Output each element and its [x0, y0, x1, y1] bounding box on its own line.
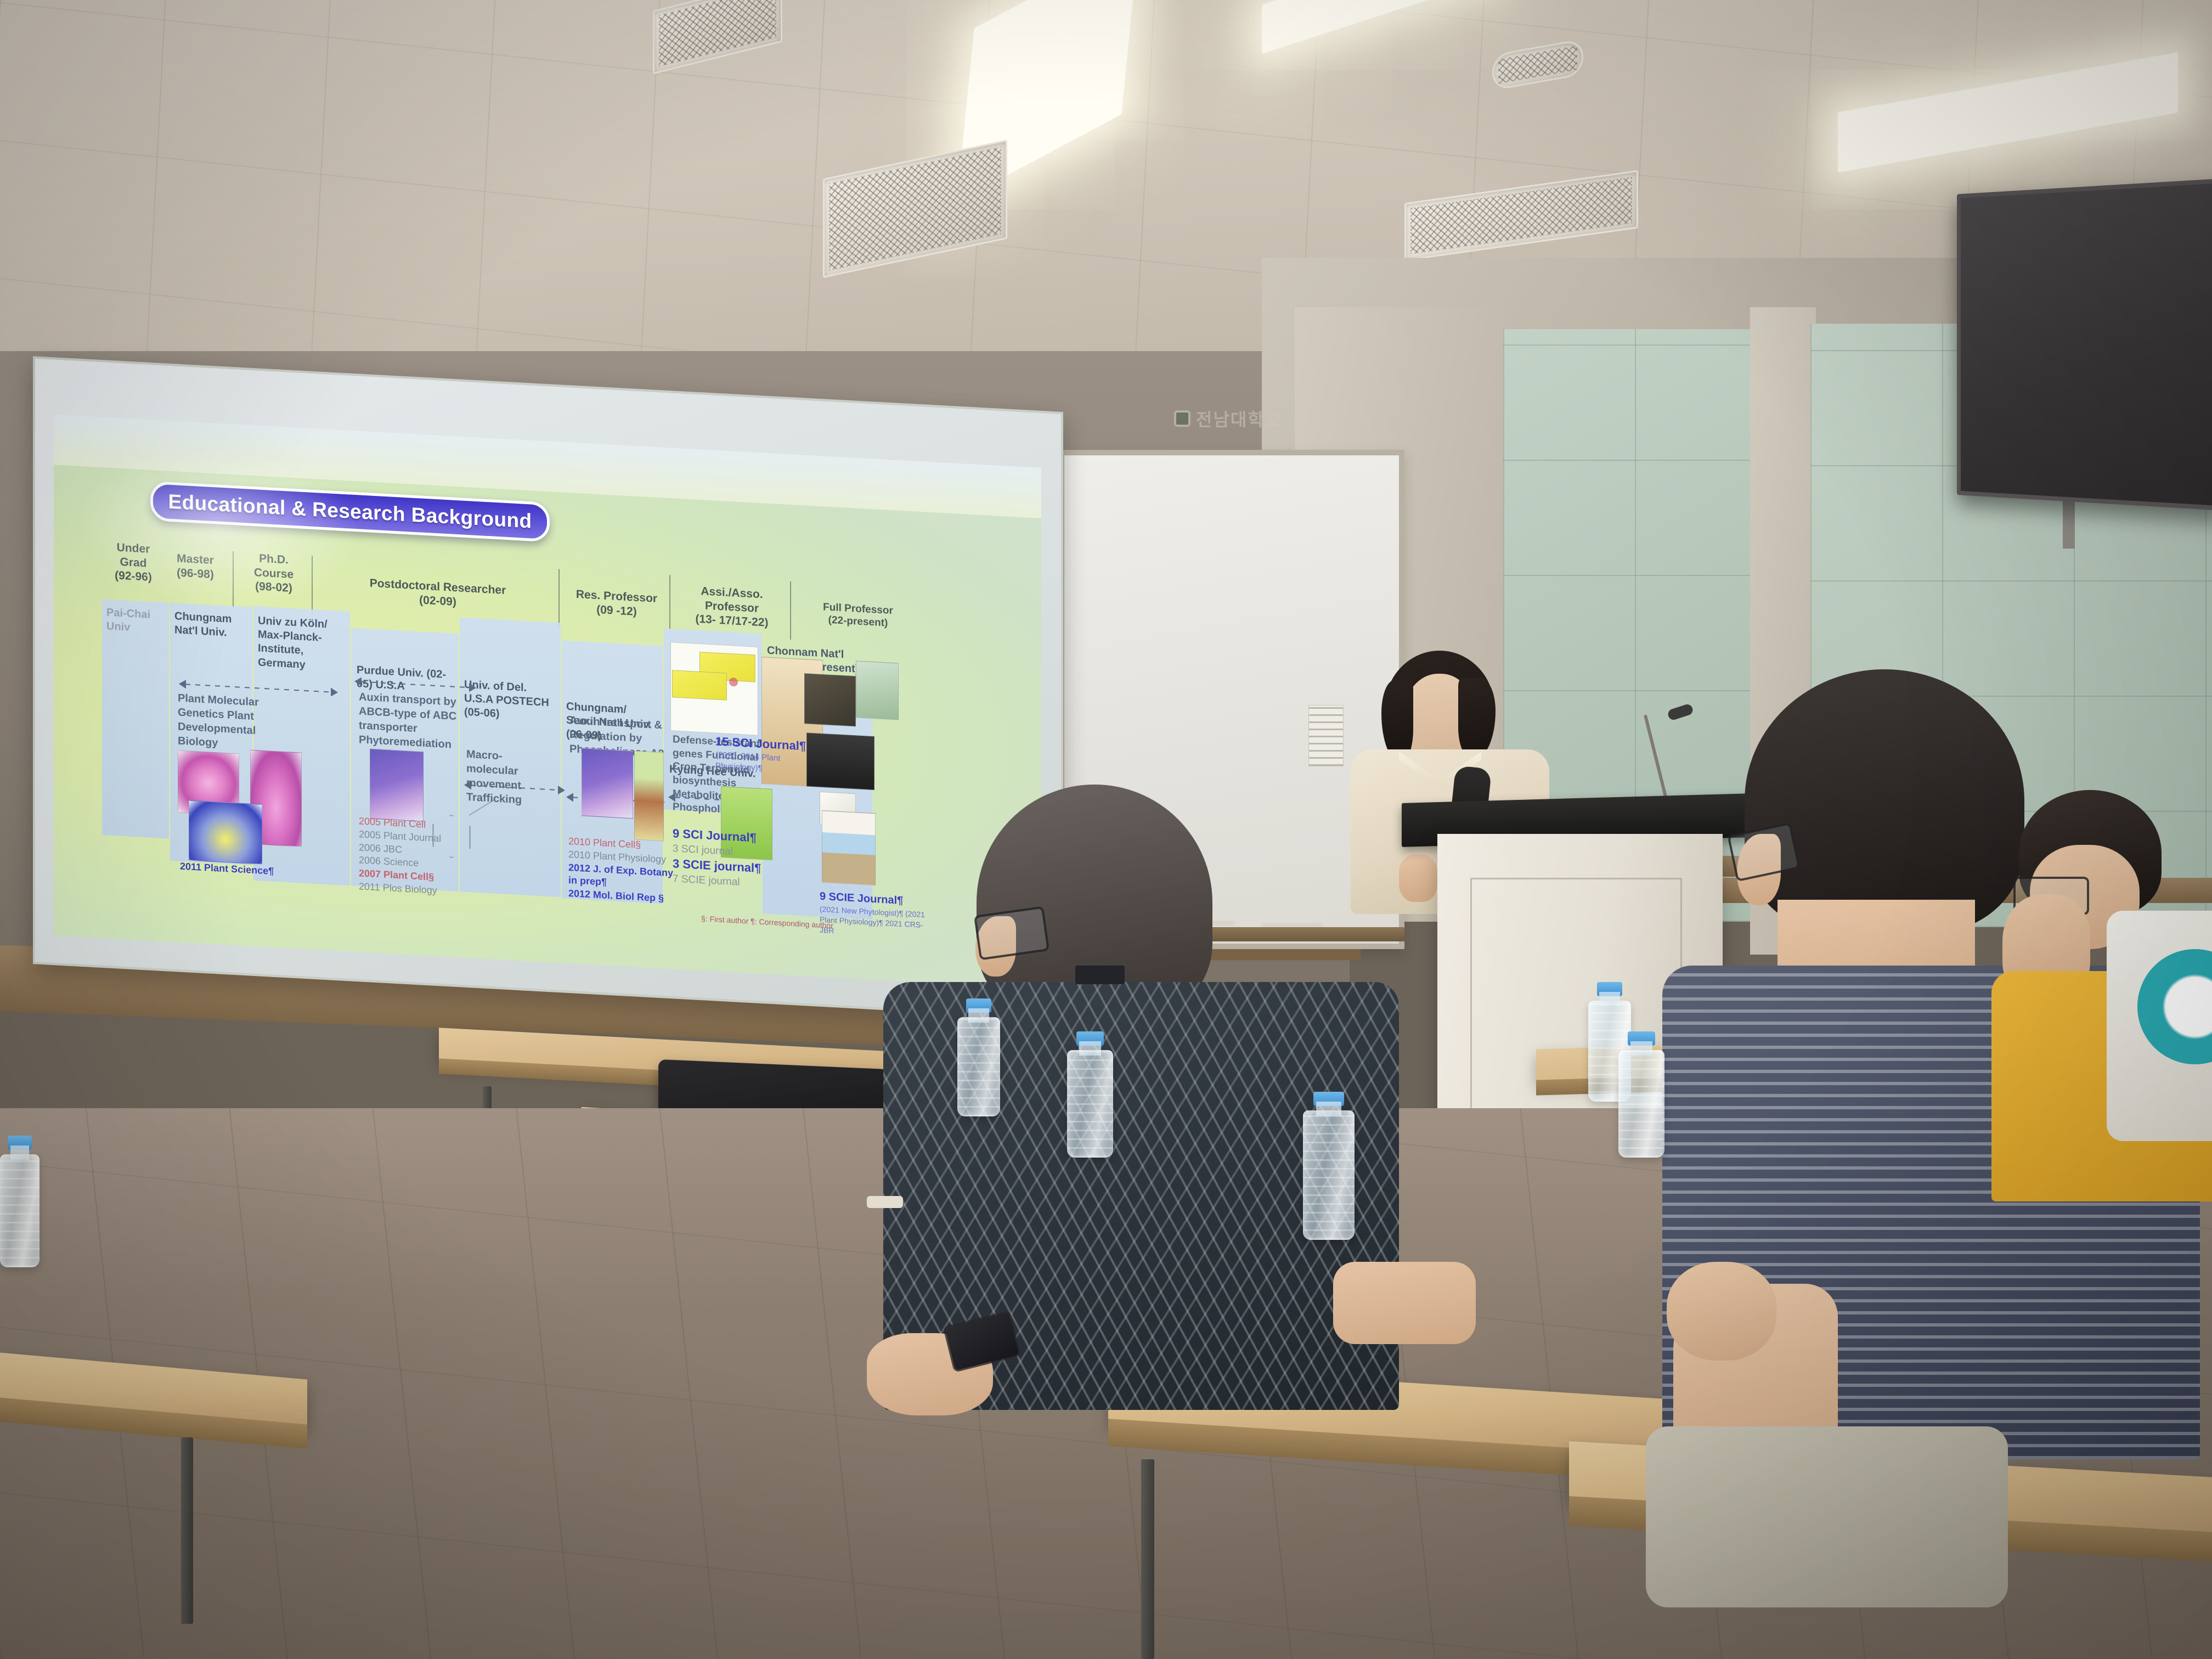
bottle-body [1067, 1050, 1113, 1158]
timeline-divider [790, 582, 791, 640]
water-bottle [1303, 1092, 1355, 1240]
timeline-divider [558, 569, 560, 627]
timeline-header-res-professor: Res. Professor (09 -12) [567, 587, 666, 620]
thumbnail-plant-photo [856, 661, 899, 720]
publication-list-mid: 2010 Plant Cell§ 2010 Plant Physiology 2… [568, 835, 678, 906]
wall-mounted-tv [1957, 178, 2212, 511]
thumbnail-plant-cell-cover [370, 748, 424, 821]
timeline-header-phd: Ph.D. Course (98-02) [238, 550, 309, 596]
timeline-divider [669, 575, 670, 633]
university-logo-text: 전남대학교 [1196, 406, 1282, 431]
thumbnail-new-phytologist-cover [822, 810, 876, 885]
attendee-forearm [1333, 1262, 1476, 1344]
bottle-body [1303, 1110, 1355, 1240]
institution-delaware-postech: Univ. of Del. U.S.A POSTECH (05-06) [464, 678, 552, 724]
institution-koeln-mpi: Univ zu Köln/ Max-Planck-Institute, Germ… [258, 614, 346, 674]
timeline-header-assi-asso-professor: Assi./Asso. Professor (13- 17/17-22) [677, 583, 787, 631]
remote-control [867, 1196, 903, 1208]
publication-list-left: 2005 Plant Cell 2005 Plant Journal 2006 … [359, 815, 458, 898]
thumbnail-microscopy-dark [804, 673, 856, 726]
water-bottle [957, 998, 1000, 1116]
water-bottle [1618, 1031, 1664, 1158]
institution-pai-chai: Pai-Chai Univ [106, 606, 167, 636]
slide-title-banner: Educational & Research Background [150, 481, 550, 542]
desk-leg [181, 1437, 193, 1624]
attendee-hand [1667, 1262, 1776, 1361]
topic-macromolecular-trafficking: Macro-molecular movement Trafficking [466, 747, 538, 808]
university-logo: 전남대학교 [1174, 406, 1282, 431]
timeline-header-postdoc: Postdoctoral Researcher (02-09) [323, 574, 553, 614]
thumbnail-plant-cell-cover [582, 748, 633, 819]
water-bottle [1067, 1031, 1113, 1158]
thumbnail-seedling-photo [634, 751, 664, 842]
slide-title-text: Educational & Research Background [168, 490, 532, 533]
timeline-divider [312, 556, 313, 614]
figure-red-blob [729, 678, 738, 687]
topic-plant-molecular-genetics: Plant Molecular Genetics Plant Developme… [178, 691, 276, 753]
bottle-body [1618, 1050, 1664, 1158]
attendee-shorts [1646, 1426, 2008, 1607]
topic-auxin-abcb: Auxin transport by ABCB-type of ABC tran… [359, 690, 463, 752]
attendee-far-right [2107, 911, 2212, 1218]
timeline-divider [233, 551, 234, 610]
institution-chungnam: Chungnam Nat'l Univ. [174, 610, 251, 641]
bottle-body [957, 1017, 1000, 1116]
university-emblem-icon [1174, 410, 1190, 427]
figure-yellow-panel [672, 670, 727, 700]
sci-count-block: 9 SCI Journal¶ 3 SCI journal 3 SCIE jour… [673, 825, 782, 891]
presenter-hair-side [1458, 678, 1496, 760]
timeline-header-full-professor: Full Professor (22-present) [798, 600, 918, 631]
lecture-room-photo: 전남대학교 Educational & Research Background … [0, 0, 2212, 1659]
timeline-header-under-grad: Under Grad (92-96) [103, 540, 163, 585]
thumbnail-award-trophy [189, 800, 262, 865]
eraser-on-ledge [1075, 966, 1125, 984]
water-bottle [0, 1136, 39, 1267]
bottle-body [0, 1154, 39, 1267]
thumbnail-pathway-figure [670, 642, 758, 736]
attendee-hair [1745, 669, 2024, 933]
timeline-header-master: Master (96-98) [162, 551, 228, 583]
attendee-front-left [905, 785, 1564, 1553]
presentation-slide: Educational & Research Background Under … [54, 414, 1041, 989]
sci-count-15: 15 SCI Journal¶ (2020, 2014 Plant Physio… [715, 733, 820, 777]
